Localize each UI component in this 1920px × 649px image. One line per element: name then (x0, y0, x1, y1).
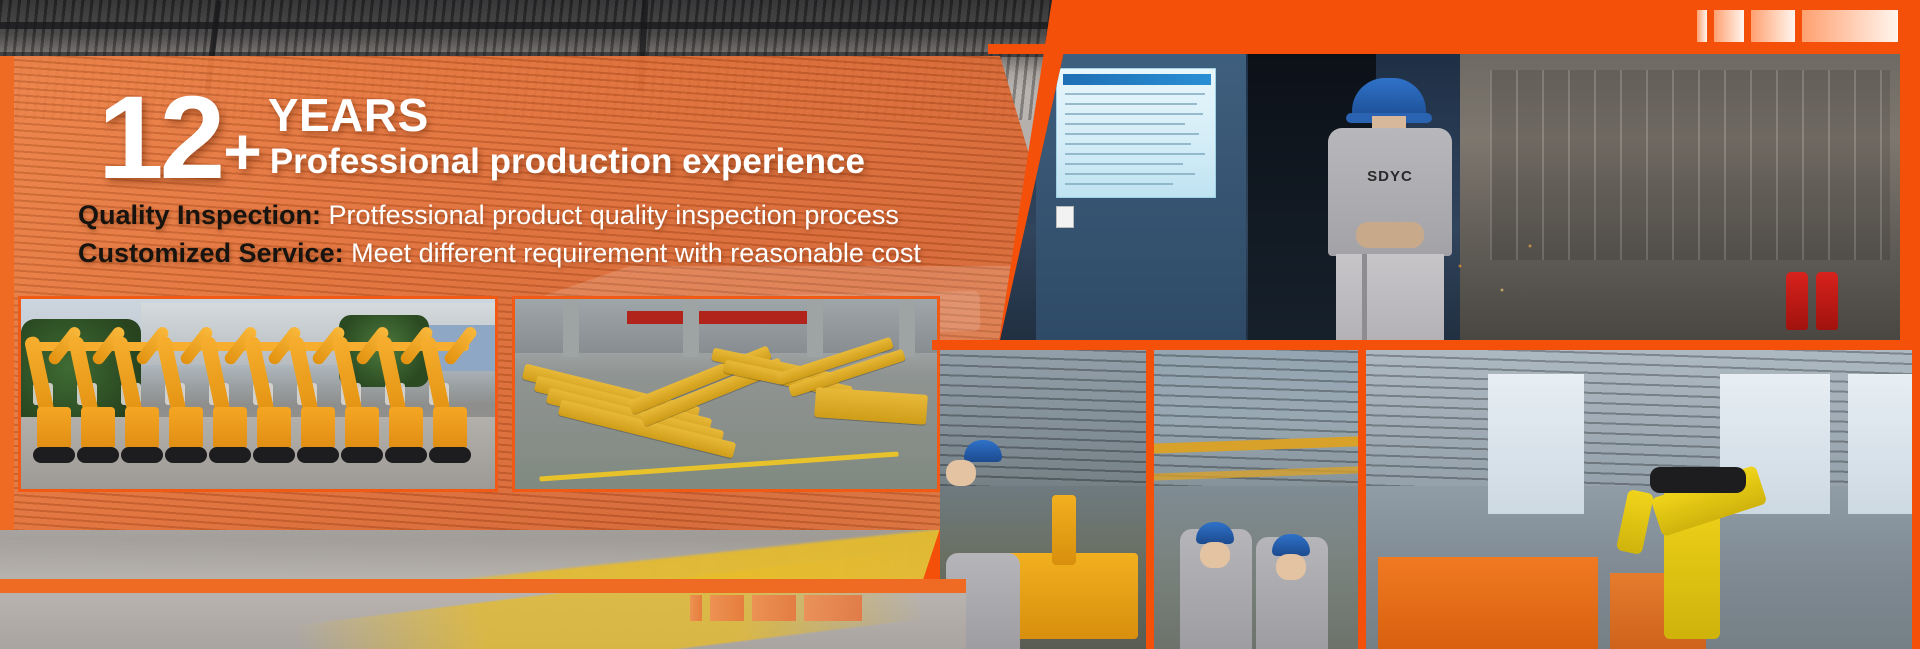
decor-bars-bottom (690, 595, 862, 621)
photo-column (683, 299, 699, 357)
years-row: 12 + YEARS Professional production exper… (98, 84, 998, 193)
bottom-orange-ribbon (0, 579, 966, 593)
robot-cable (1650, 467, 1746, 493)
bullet-customized-service: Customized Service: Meet different requi… (78, 234, 921, 272)
photo-column (807, 299, 823, 357)
worker-face (946, 460, 976, 486)
thumb-gutter (1912, 340, 1920, 649)
fire-extinguisher (1816, 272, 1838, 330)
uniform-brand-text: SDYC (1358, 168, 1422, 186)
company-capability-banner: 12 + YEARS Professional production exper… (0, 0, 1920, 649)
photo-column (899, 299, 915, 357)
safety-poster (1056, 68, 1216, 198)
photo-column (563, 299, 579, 357)
photo-excavator-boom-stack (512, 296, 940, 492)
door-warning-sign (1056, 206, 1074, 228)
headline-block: 12 + YEARS Professional production exper… (98, 84, 998, 193)
mini-excavator (1006, 553, 1138, 639)
decor-bar (1802, 10, 1898, 42)
photo-welding-robot (1364, 348, 1920, 649)
window (1488, 374, 1584, 514)
poster-title-bar (1063, 74, 1211, 85)
decor-bar (1751, 10, 1795, 42)
bullet-label: Customized Service: (78, 238, 344, 268)
photo-red-banner (627, 311, 817, 324)
blue-helmet-icon (1352, 78, 1426, 118)
photo-roof (1364, 348, 1920, 486)
plus-sign: + (223, 118, 262, 184)
bullet-text: Meet different requirement with reasonab… (351, 238, 921, 268)
headline-subtitle: Professional production experience (270, 143, 865, 180)
left-orange-edge (0, 56, 14, 530)
worker-face (1200, 542, 1230, 568)
photo-laser-cutting-worker: SDYC (1000, 52, 1900, 340)
bullet-quality-inspection: Quality Inspection: Protfessional produc… (78, 196, 921, 234)
decor-bar (710, 595, 744, 621)
years-number: 12 (98, 84, 221, 193)
thumb-gutter (988, 44, 1920, 54)
decor-bars-top-right (1697, 10, 1898, 42)
thumb-gutter (1358, 348, 1366, 649)
decor-bar (1697, 10, 1707, 42)
bullet-text: Protfessional product quality inspection… (329, 200, 899, 230)
fire-extinguisher (1786, 272, 1808, 330)
photo-roof (1152, 348, 1358, 486)
orange-welding-curtain (1378, 557, 1598, 649)
decor-bar (804, 595, 862, 621)
excavator-arm (1052, 495, 1076, 565)
decor-bar (1714, 10, 1744, 42)
window (1848, 374, 1914, 514)
thumb-gutter (932, 340, 1920, 350)
thumb-gutter (1900, 44, 1920, 350)
worker-figure: SDYC (1310, 72, 1470, 340)
photo-two-workers-workshop (1152, 348, 1358, 649)
worker-face (1276, 554, 1306, 580)
years-word: YEARS (268, 92, 865, 138)
photo-mini-excavator-row (18, 296, 498, 492)
bullet-label: Quality Inspection: (78, 200, 321, 230)
thumb-gutter (1146, 348, 1154, 649)
decor-bar (690, 595, 702, 621)
bullet-list: Quality Inspection: Protfessional produc… (78, 196, 921, 273)
photo-assembly-worker (940, 348, 1146, 649)
excavator-unit (431, 331, 471, 449)
decor-bar (752, 595, 796, 621)
